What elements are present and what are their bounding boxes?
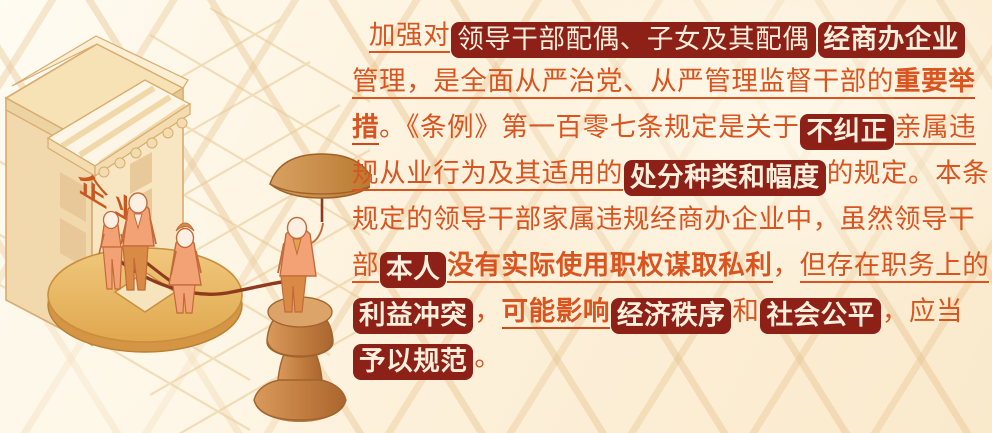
infographic-card: 企业 — [0, 0, 992, 433]
segment-plain: ， — [882, 296, 909, 326]
segment-plain: 和 — [732, 296, 759, 326]
segment-underline-bold: 重要举 — [894, 66, 975, 99]
article-text: 加强对领导干部配偶、子女及其配偶经商办企业 管理，是全面从严治党、从严管理监督干… — [352, 12, 966, 422]
segment-plain: ， — [773, 250, 800, 280]
highlight-tag-bold: 不纠正 — [800, 114, 893, 150]
segment-plain: 的规定。本条 — [827, 158, 990, 188]
text-line-8: 予以规范。 — [352, 334, 966, 380]
text-line-6: 部本人没有实际使用职权谋取私利，但存在职务上的 — [352, 242, 966, 288]
highlight-tag-bold: 予以规范 — [353, 344, 473, 380]
highlight-tag: 领导干部配偶、子女及其配偶 — [451, 22, 815, 58]
text-line-7: 利益冲突，可能影响经济秩序和社会公平，应当 — [352, 288, 966, 334]
segment-plain: 应当 — [909, 296, 963, 326]
highlight-tag-bold: 经济秩序 — [611, 298, 731, 334]
segment-plain: 。《条例》第一百零七条规定是关于 — [379, 112, 799, 142]
highlight-tag-bold: 社会公平 — [760, 298, 880, 334]
text-line-1: 加强对领导干部配偶、子女及其配偶经商办企业 — [352, 12, 966, 58]
highlight-tag-bold: 本人 — [380, 252, 446, 288]
text-line-5: 规定的领导干部家属违规经商办企业中，虽然领导干 — [352, 196, 966, 242]
segment-underline-bold: 没有实际使用职权谋取私利 — [447, 250, 772, 283]
highlight-tag-bold: 经商办企业 — [818, 22, 966, 58]
text-line-3: 措。《条例》第一百零七条规定是关于不纠正亲属违 — [352, 104, 966, 150]
segment-underline: 规从业行为及其适用的 — [352, 158, 623, 191]
segment-underline: 亲属违 — [895, 112, 976, 145]
illustration-enterprise-scene: 企业 — [0, 0, 370, 433]
highlight-tag-bold: 利益冲突 — [353, 298, 473, 334]
segment-plain: 。 — [474, 342, 501, 372]
segment-underline-bold: 可能影响 — [502, 296, 610, 329]
text-line-2: 管理，是全面从严治党、从严管理监督干部的重要举 — [352, 58, 966, 104]
text-line-4: 规从业行为及其适用的处分种类和幅度的规定。本条 — [352, 150, 966, 196]
segment-underline: 管理， — [352, 66, 433, 99]
segment-underline: 但存在职务上的 — [800, 250, 990, 283]
highlight-tag-bold: 处分种类和幅度 — [624, 160, 826, 196]
segment-underline-bold: 措 — [352, 112, 379, 145]
segment-plain: ， — [474, 296, 501, 326]
segment-underline: 加强对 — [369, 20, 450, 53]
segment-plain: 规定的领导干部家属违规经商办企业中，虽然领导干 — [352, 204, 975, 234]
chess-pawn-pedestal — [254, 297, 346, 422]
segment-underline: 是全面从严治党、从严管理监督干部的 — [433, 66, 894, 99]
segment-underline: 部 — [352, 250, 379, 283]
